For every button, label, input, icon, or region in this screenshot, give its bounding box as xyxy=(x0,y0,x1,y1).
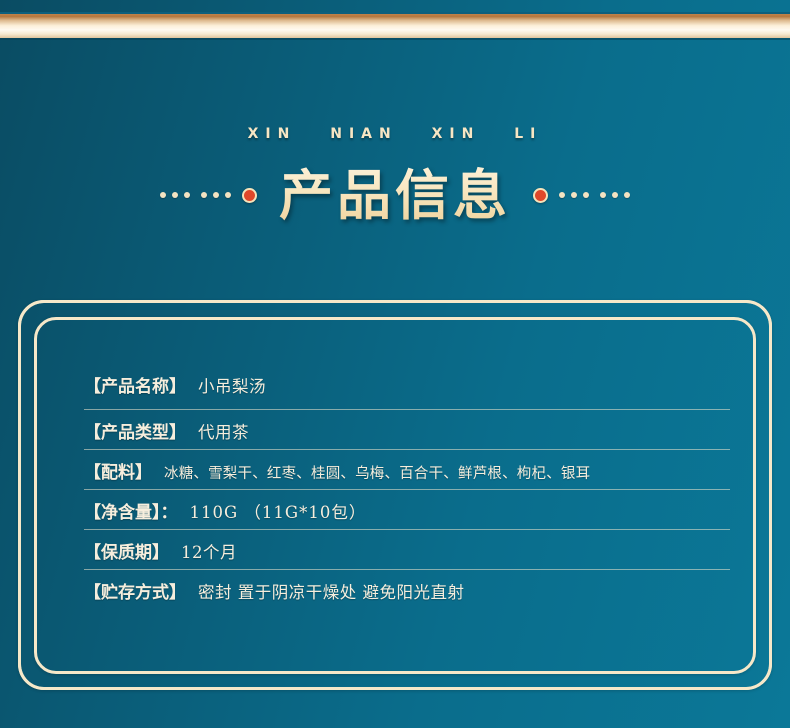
info-label: 【净含量】： xyxy=(84,498,178,523)
info-value: 密封 置于阴凉干燥处 避免阳光直射 xyxy=(198,579,465,603)
info-row-net-weight: 【净含量】： 110G （11G*10包） xyxy=(84,490,732,530)
dot-large-left-icon xyxy=(242,188,257,203)
info-label: 【产品类型】 xyxy=(84,418,186,443)
dot-trio-inner-right-icon xyxy=(559,192,589,198)
frame-corner-bottom-right xyxy=(738,656,772,690)
dot-small-icon xyxy=(184,192,190,198)
info-label: 【保质期】 xyxy=(84,538,169,563)
frame-corner-bottom-left xyxy=(18,656,52,690)
dot-small-icon xyxy=(172,192,178,198)
info-value: 小吊梨汤 xyxy=(198,373,266,397)
dot-small-icon xyxy=(624,192,630,198)
info-label: 【配料】 xyxy=(84,458,152,483)
decoration-right xyxy=(533,188,630,203)
info-value: 冰糖、雪梨干、红枣、桂圆、乌梅、百合干、鲜芦根、枸杞、银耳 xyxy=(164,462,590,483)
pinyin-subtitle: XIN NIAN XIN LI xyxy=(0,126,790,142)
info-value: 代用茶 xyxy=(198,419,249,443)
dot-small-icon xyxy=(583,192,589,198)
info-label: 【贮存方式】 xyxy=(84,578,186,603)
dot-large-right-icon xyxy=(533,188,548,203)
dot-small-icon xyxy=(225,192,231,198)
dot-trio-outer-right-icon xyxy=(600,192,630,198)
bottom-band-hairline xyxy=(0,38,790,40)
info-row-storage: 【贮存方式】 密封 置于阴凉干燥处 避免阳光直射 xyxy=(84,570,732,610)
pinyin-word-1: XIN xyxy=(248,126,297,142)
info-value: 110G （11G*10包） xyxy=(190,499,367,523)
pinyin-word-4: LI xyxy=(514,126,542,142)
info-row-shelf-life: 【保质期】 12个月 xyxy=(84,530,732,570)
dot-small-icon xyxy=(612,192,618,198)
product-info-banner: XIN NIAN XIN LI 产品信息 xyxy=(0,0,790,728)
frame-corner-top-right xyxy=(738,300,772,334)
info-label: 【产品名称】 xyxy=(84,372,186,397)
dot-small-icon xyxy=(201,192,207,198)
dot-small-icon xyxy=(160,192,166,198)
pinyin-word-3: XIN xyxy=(432,126,481,142)
page-title: 产品信息 xyxy=(261,160,529,230)
title-row: 产品信息 xyxy=(0,160,790,230)
dot-small-icon xyxy=(213,192,219,198)
info-row-ingredients: 【配料】 冰糖、雪梨干、红枣、桂圆、乌梅、百合干、鲜芦根、枸杞、银耳 xyxy=(84,450,732,490)
info-row-product-type: 【产品类型】 代用茶 xyxy=(84,410,732,450)
dot-trio-outer-left-icon xyxy=(160,192,190,198)
info-row-product-name: 【产品名称】 小吊梨汤 xyxy=(84,372,732,410)
top-gold-band xyxy=(0,14,790,38)
dot-trio-inner-left-icon xyxy=(201,192,231,198)
frame-corner-top-left xyxy=(18,300,52,334)
product-info-list: 【产品名称】 小吊梨汤 【产品类型】 代用茶 【配料】 冰糖、雪梨干、红枣、桂圆… xyxy=(84,372,732,610)
dot-small-icon xyxy=(600,192,606,198)
dot-small-icon xyxy=(559,192,565,198)
pinyin-word-2: NIAN xyxy=(330,126,397,142)
dot-small-icon xyxy=(571,192,577,198)
decoration-left xyxy=(160,188,257,203)
info-value: 12个月 xyxy=(181,539,237,563)
